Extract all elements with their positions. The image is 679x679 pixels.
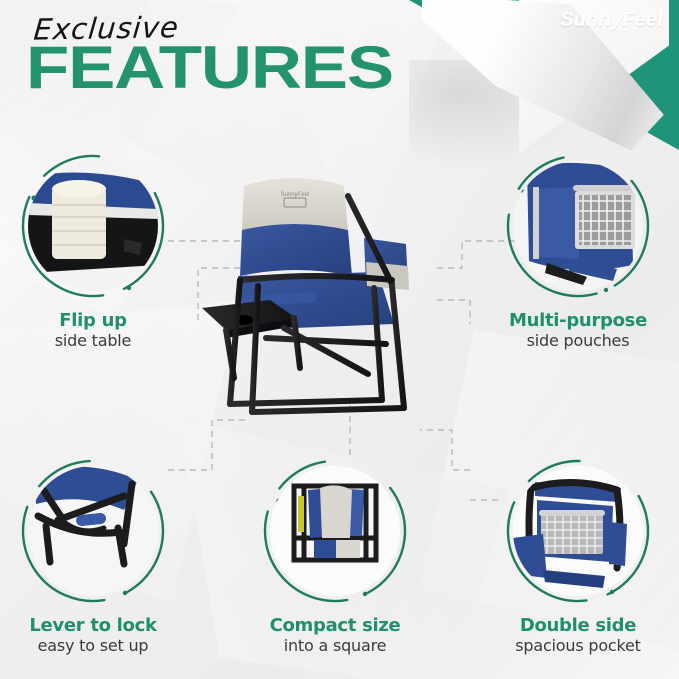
feature-ring (17, 455, 169, 607)
infographic-page: SunnyFeel Exclusive FEATURES (0, 0, 679, 679)
feature-title: Compact size (240, 616, 430, 636)
feature-subtitle: into a square (240, 637, 430, 655)
feature-photo (270, 466, 400, 596)
feature-caption: Flip up side table (0, 311, 188, 351)
feature-subtitle: spacious pocket (483, 637, 673, 655)
feature-photo (28, 161, 158, 291)
feature-multi-purpose-side-pouches: Multi-purpose side pouches (483, 150, 673, 351)
feature-caption: Multi-purpose side pouches (483, 311, 673, 351)
feature-subtitle: side pouches (483, 332, 673, 350)
feature-title: Multi-purpose (483, 311, 673, 331)
svg-text:SunnyFeel: SunnyFeel (281, 192, 310, 198)
feature-caption: Compact size into a square (240, 616, 430, 656)
brand-logo: SunnyFeel (560, 9, 663, 32)
feature-lever-to-lock: Lever to lock easy to set up (0, 455, 188, 656)
feature-compact-size: Compact size into a square (240, 455, 430, 656)
feature-caption: Double side spacious pocket (483, 616, 673, 656)
feature-title: Double side (483, 616, 673, 636)
feature-title: Lever to lock (0, 616, 188, 636)
product-image-chair: SunnyFeel (196, 168, 476, 448)
feature-double-side-pocket: Double side spacious pocket (483, 455, 673, 656)
feature-caption: Lever to lock easy to set up (0, 616, 188, 656)
feature-ring (502, 150, 654, 302)
feature-subtitle: easy to set up (0, 637, 188, 655)
page-title: Exclusive FEATURES (26, 10, 337, 95)
feature-title: Flip up (0, 311, 188, 331)
feature-ring (17, 150, 169, 302)
feature-subtitle: side table (0, 332, 188, 350)
feature-photo (513, 466, 643, 596)
feature-photo (28, 466, 158, 596)
headline-main: FEATURES (26, 40, 393, 95)
feature-ring (259, 455, 411, 607)
feature-photo (513, 161, 643, 291)
feature-ring (502, 455, 654, 607)
feature-flip-up-side-table: Flip up side table (0, 150, 188, 351)
